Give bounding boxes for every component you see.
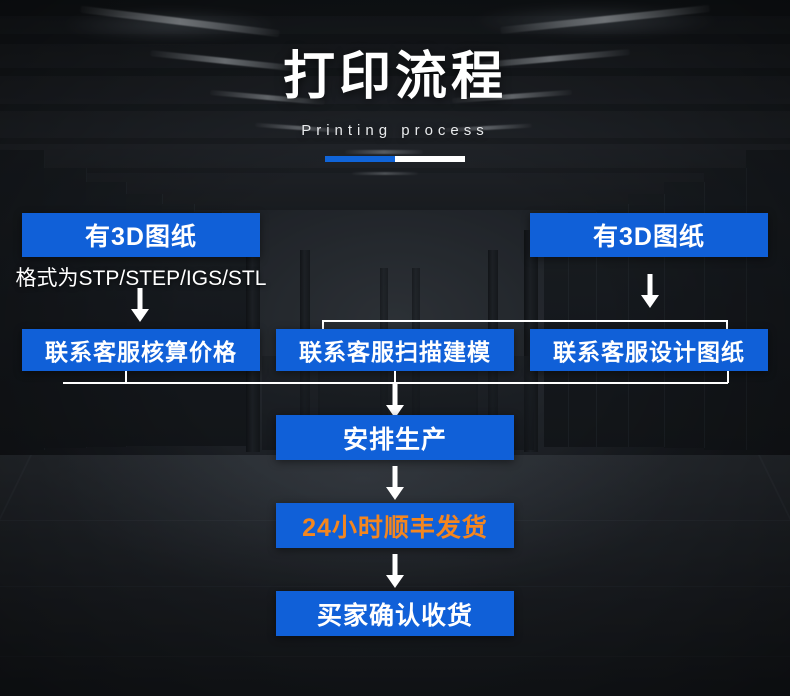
flow-box-has-3d-drawing-left[interactable]: 有3D图纸 <box>22 213 260 257</box>
down-arrow-icon-right-top <box>636 274 664 308</box>
poster-stage: 打印流程 Printing process 有3D图纸 格式为STP/STEP/… <box>0 0 790 696</box>
flow-box-has-3d-drawing-right[interactable]: 有3D图纸 <box>530 213 768 257</box>
flow-box-label: 联系客服核算价格 <box>45 333 237 367</box>
divider-white-segment <box>395 156 465 162</box>
flow-box-buyer-confirm-receipt[interactable]: 买家确认收货 <box>276 591 514 636</box>
title-divider <box>325 156 465 162</box>
flow-box-contact-service-quote[interactable]: 联系客服核算价格 <box>22 329 260 371</box>
flow-box-contact-service-design-drawing[interactable]: 联系客服设计图纸 <box>530 329 768 371</box>
page-subtitle: Printing process <box>0 122 790 140</box>
merge-bracket-top-line <box>322 320 728 322</box>
flow-box-arrange-production[interactable]: 安排生产 <box>276 415 514 460</box>
divider-blue-segment <box>325 156 395 162</box>
down-arrow-icon-left-top <box>126 288 154 322</box>
flow-box-label: 有3D图纸 <box>85 217 197 253</box>
flow-box-contact-service-scan-model[interactable]: 联系客服扫描建模 <box>276 329 514 371</box>
flow-box-label: 买家确认收货 <box>317 596 473 632</box>
down-arrow-icon-to-shipping <box>381 466 409 500</box>
down-arrow-icon-to-production <box>381 384 409 418</box>
flow-box-24h-sf-express-shipping[interactable]: 24小时顺丰发货 <box>276 503 514 548</box>
flow-box-label: 24小时顺丰发货 <box>302 508 488 544</box>
flow-box-label: 有3D图纸 <box>593 217 705 253</box>
page-title: 打印流程 <box>0 46 790 108</box>
flow-box-label: 联系客服设计图纸 <box>553 333 745 367</box>
down-arrow-icon-to-confirm <box>381 554 409 588</box>
header: 打印流程 Printing process <box>0 46 790 162</box>
flow-box-label: 安排生产 <box>343 420 447 456</box>
flow-box-label: 联系客服扫描建模 <box>299 333 491 367</box>
